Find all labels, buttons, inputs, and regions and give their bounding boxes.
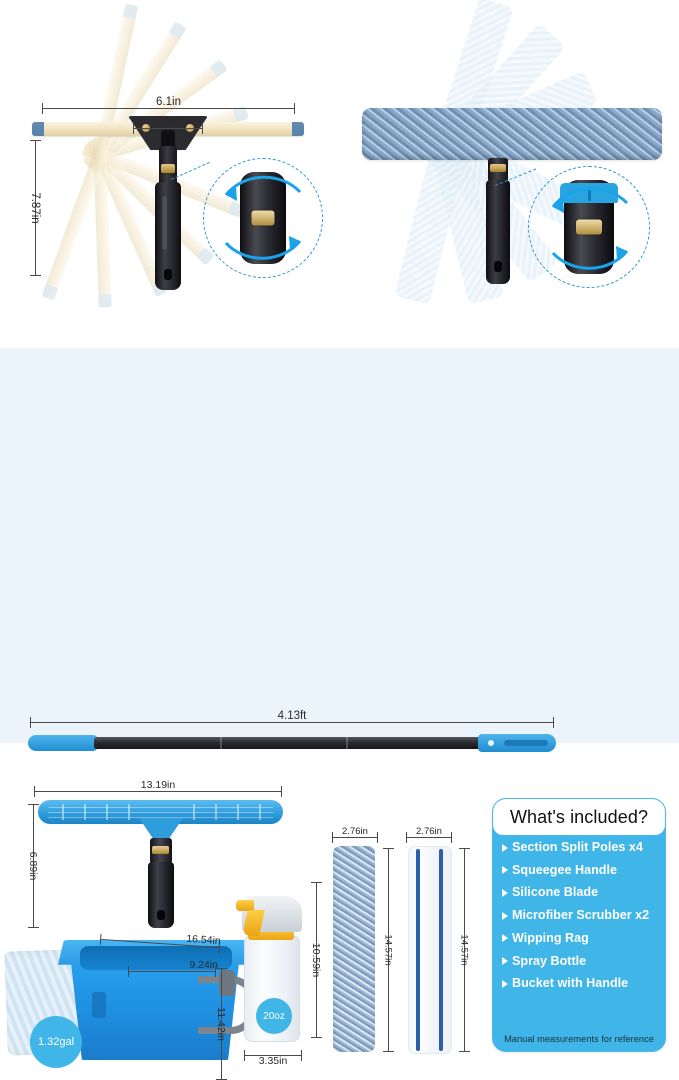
dimension-label: 6.1in <box>152 96 185 108</box>
list-item: Silicone Blade <box>502 886 665 899</box>
dimension-scrubber-pad-width: 2.76in <box>332 830 378 844</box>
microfiber-scrubber-pad <box>333 846 375 1052</box>
pole-slot <box>504 740 548 746</box>
dimension-bucket-height: 11.42in <box>212 968 230 1080</box>
handle-hanging-hole <box>157 910 165 920</box>
card-title: What's included? <box>510 807 648 828</box>
dimension-squeegee-height: 7.87in <box>26 140 44 276</box>
pole-tube <box>94 737 484 749</box>
bullet-triangle-icon <box>502 866 508 874</box>
dimension-label: 3.35in <box>255 1055 292 1067</box>
dimension-pole-length: 4.13ft <box>30 714 554 730</box>
dimension-tsqueegee-height: 6.89in <box>24 804 42 928</box>
handle-groove <box>162 196 167 250</box>
bullet-triangle-icon <box>502 980 508 988</box>
bottom-panel: 1.32gal 20oz What's included? Section Sp… <box>0 348 679 743</box>
included-items-list: Section Split Poles x4 Squeegee Handle S… <box>493 835 665 991</box>
bullet-triangle-icon <box>502 957 508 965</box>
dimension-label: 2.76in <box>412 826 446 837</box>
dimension-squeegee-head-width: 3.74in <box>133 120 203 136</box>
blade-tip-right <box>292 122 304 136</box>
pole-grip <box>28 735 98 751</box>
list-item: Spray Bottle <box>502 955 665 968</box>
dimension-label: 2.76in <box>338 826 372 837</box>
handle-hanging-hole <box>494 261 502 272</box>
dimension-label: 14.57in <box>459 934 470 965</box>
dimension-wiper-pad-height: 14.57in <box>456 848 472 1052</box>
dimension-squeegee-width: 6.1in <box>42 100 295 116</box>
blade-tip-left <box>32 122 44 136</box>
list-item-label: Spray Bottle <box>512 955 586 968</box>
extension-pole <box>28 734 556 752</box>
brass-button <box>161 164 175 173</box>
dimension-bottle-width: 3.35in <box>244 1048 302 1062</box>
bullet-triangle-icon <box>502 844 508 852</box>
squeegee-yoke <box>139 818 183 840</box>
capacity-badge-bottle: 20oz <box>256 998 292 1034</box>
badge-label: 20oz <box>263 1011 285 1022</box>
scrubber-handle <box>486 180 510 284</box>
list-item-label: Wipping Rag <box>512 932 589 945</box>
badge-label: 1.32gal <box>38 1036 74 1048</box>
dimension-label: 10.59in <box>310 943 322 977</box>
list-item-label: Microfiber Scrubber x2 <box>512 909 649 922</box>
bullet-triangle-icon <box>502 912 508 920</box>
list-item: Wipping Rag <box>502 932 665 945</box>
dimension-label: 14.57in <box>383 934 394 965</box>
brass-button <box>152 846 169 854</box>
dimension-label: 6.89in <box>27 852 39 881</box>
list-item: Squeegee Handle <box>502 864 665 877</box>
dimension-bottle-height: 10.59in <box>308 882 324 1038</box>
list-item-label: Squeegee Handle <box>512 864 617 877</box>
dimension-tsqueegee-width: 13.19in <box>34 784 282 798</box>
wipping-rag-pad <box>408 846 452 1054</box>
dimension-bucket-inner-width: 9.24in <box>128 964 216 978</box>
capacity-badge-bucket: 1.32gal <box>30 1016 82 1068</box>
dimension-label: 7.87in <box>29 192 41 223</box>
squeegee-handle <box>155 182 181 290</box>
squeegee-handle <box>148 862 174 928</box>
rotation-arrows-icon <box>529 167 649 287</box>
dimension-label: 11.42in <box>215 1007 227 1041</box>
card-footnote: Manual measurements for reference <box>493 1034 665 1044</box>
pole-locking-tip <box>478 734 556 752</box>
list-item: Section Split Poles x4 <box>502 841 665 854</box>
dimension-label: 4.13ft <box>274 710 311 722</box>
top-panel: 6.1in 3.74in 7.87in <box>0 0 679 348</box>
whats-included-card: What's included? Section Split Poles x4 … <box>492 798 666 1052</box>
list-item-label: Section Split Poles x4 <box>512 841 643 854</box>
list-item-label: Bucket with Handle <box>512 977 628 990</box>
bullet-triangle-icon <box>502 934 508 942</box>
rotation-arrows-icon <box>204 159 322 277</box>
bucket-tab <box>92 992 106 1018</box>
handle-hanging-hole <box>164 269 172 280</box>
pole-button <box>488 740 494 746</box>
dimension-scrubber-pad-height: 14.57in <box>380 848 396 1052</box>
dimension-wiper-pad-width: 2.76in <box>406 830 452 844</box>
list-item: Bucket with Handle <box>502 977 665 990</box>
connector-zoom-detail-right <box>528 166 650 288</box>
list-item-label: Silicone Blade <box>512 886 598 899</box>
infographic-canvas: 6.1in 3.74in 7.87in <box>0 0 679 743</box>
connector-zoom-detail-left <box>203 158 323 278</box>
brass-button <box>490 164 506 172</box>
dimension-label: 13.19in <box>137 779 179 791</box>
dimension-label: 3.74in <box>148 116 187 128</box>
list-item: Microfiber Scrubber x2 <box>502 909 665 922</box>
microfiber-pad <box>362 108 662 160</box>
card-header: What's included? <box>493 799 665 835</box>
bullet-triangle-icon <box>502 889 508 897</box>
